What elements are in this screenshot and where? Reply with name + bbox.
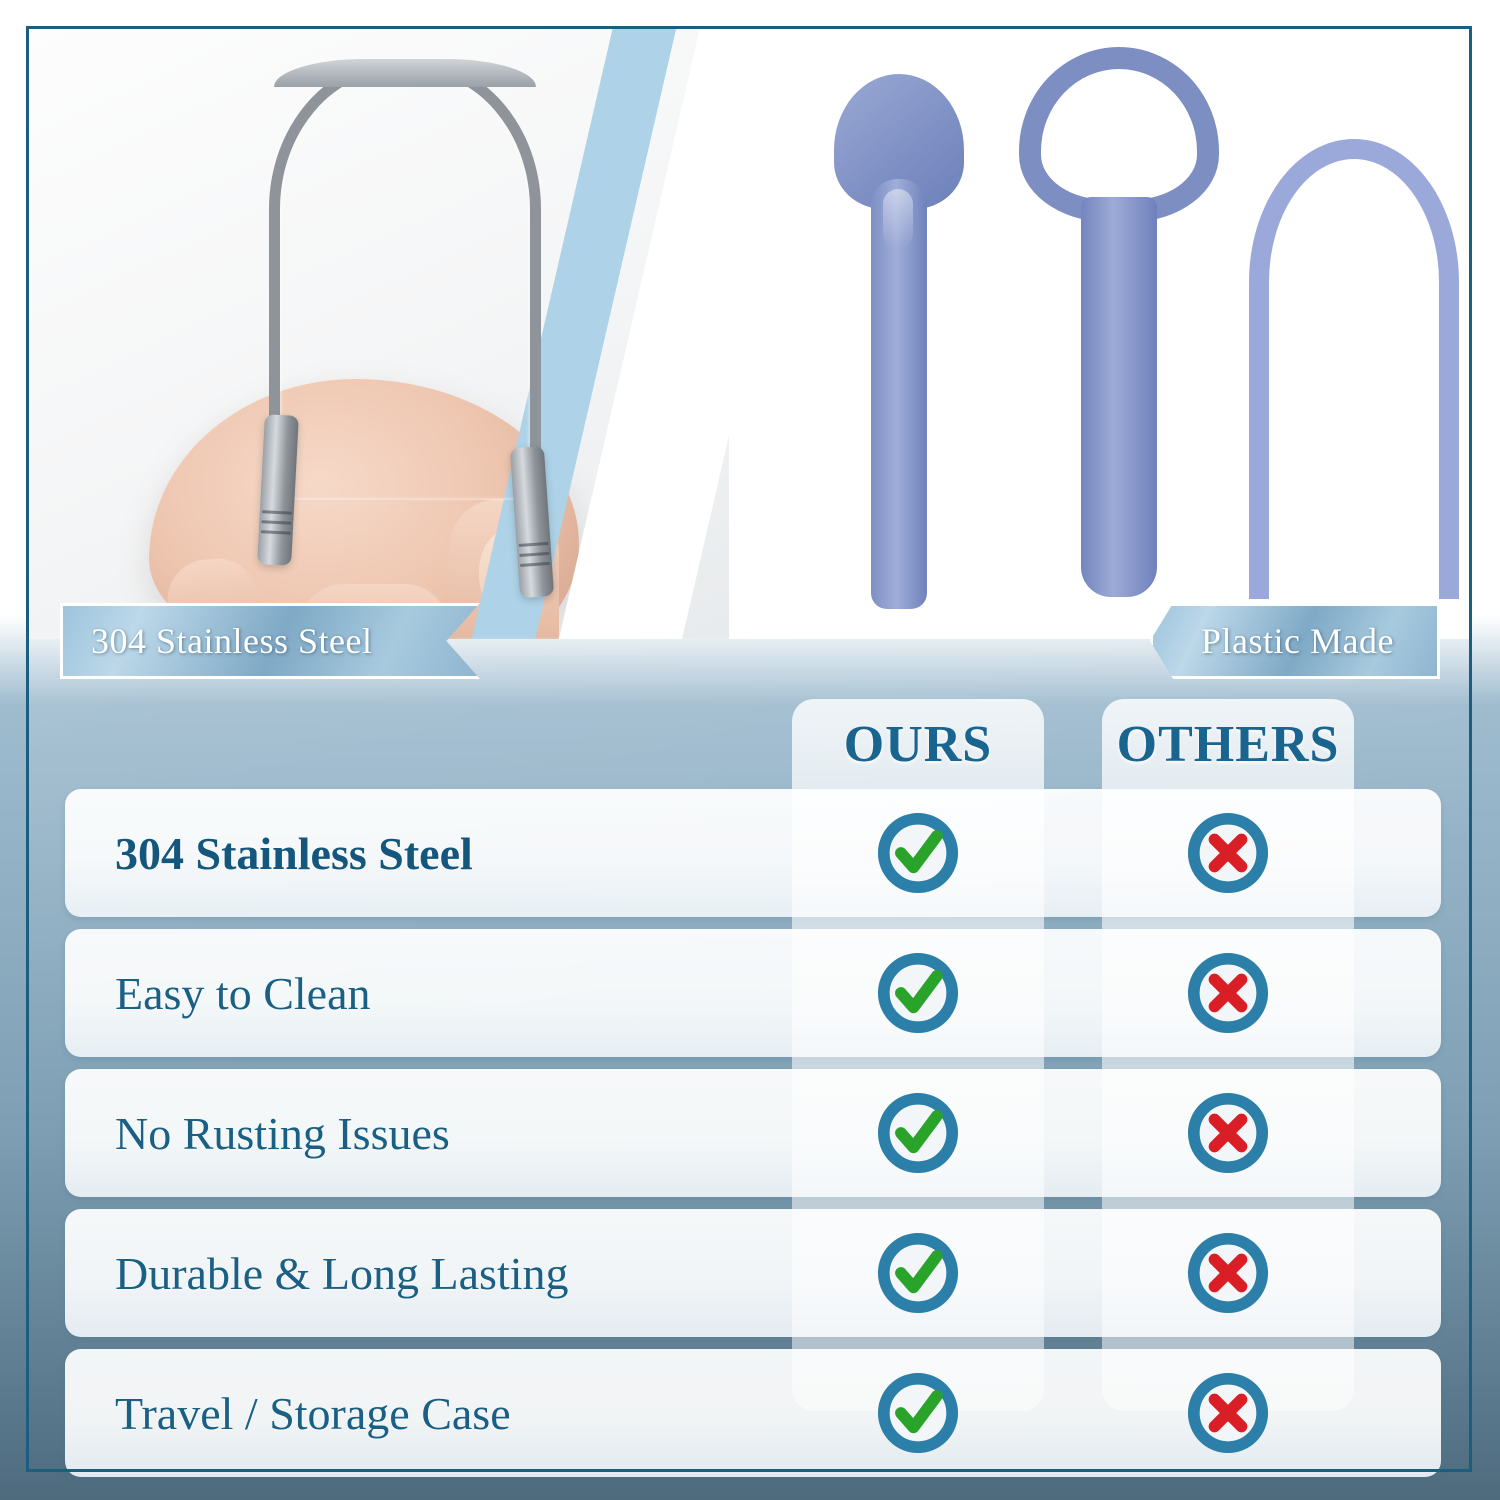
table-row: Travel / Storage Case — [29, 1349, 1471, 1477]
check-circle-icon — [873, 1368, 963, 1458]
check-circle-icon — [873, 1228, 963, 1318]
cross-circle-icon — [1183, 948, 1273, 1038]
ours-mark — [873, 808, 963, 898]
steel-scraper-blade — [269, 59, 541, 500]
feature-label: 304 Stainless Steel — [115, 789, 473, 917]
plastic-scraper-paddle — [804, 64, 994, 624]
others-mark — [1183, 1088, 1273, 1178]
others-mark — [1183, 1228, 1273, 1318]
column-header-others: OTHERS — [1102, 715, 1354, 774]
check-circle-icon — [873, 1088, 963, 1178]
cross-circle-icon — [1183, 808, 1273, 898]
banner-stainless-steel: 304 Stainless Steel — [60, 603, 480, 679]
feature-label: Easy to Clean — [115, 929, 371, 1057]
cross-circle-icon — [1183, 1368, 1273, 1458]
others-mark — [1183, 948, 1273, 1038]
cross-circle-icon — [1183, 1088, 1273, 1178]
ours-mark — [873, 1088, 963, 1178]
plastic-scraper-loop — [1019, 47, 1224, 607]
banner-left-label: 304 Stainless Steel — [91, 620, 373, 662]
plastic-product-photo — [729, 29, 1469, 639]
plastic-scraper-u-shape — [1249, 139, 1464, 609]
table-row: Easy to Clean — [29, 929, 1471, 1057]
feature-label: Durable & Long Lasting — [115, 1209, 569, 1337]
banner-right-label: Plastic Made — [1201, 620, 1394, 662]
comparison-table: OURS OTHERS 304 Stainless SteelEasy to C… — [29, 637, 1471, 1437]
table-row: Durable & Long Lasting — [29, 1209, 1471, 1337]
ours-mark — [873, 1368, 963, 1458]
feature-label: Travel / Storage Case — [115, 1349, 511, 1477]
table-row: 304 Stainless Steel — [29, 789, 1471, 917]
ours-mark — [873, 948, 963, 1038]
others-mark — [1183, 808, 1273, 898]
table-rows: 304 Stainless SteelEasy to CleanNo Rusti… — [29, 789, 1471, 1489]
check-circle-icon — [873, 948, 963, 1038]
others-mark — [1183, 1368, 1273, 1458]
check-circle-icon — [873, 808, 963, 898]
cross-circle-icon — [1183, 1228, 1273, 1318]
product-comparison-infographic: 304 Stainless Steel Plastic Made OURS OT… — [0, 0, 1500, 1500]
photo-band — [29, 29, 1469, 639]
feature-label: No Rusting Issues — [115, 1069, 450, 1197]
banner-plastic-made: Plastic Made — [1150, 603, 1440, 679]
ours-mark — [873, 1228, 963, 1318]
table-row: No Rusting Issues — [29, 1069, 1471, 1197]
column-header-ours: OURS — [792, 715, 1044, 774]
